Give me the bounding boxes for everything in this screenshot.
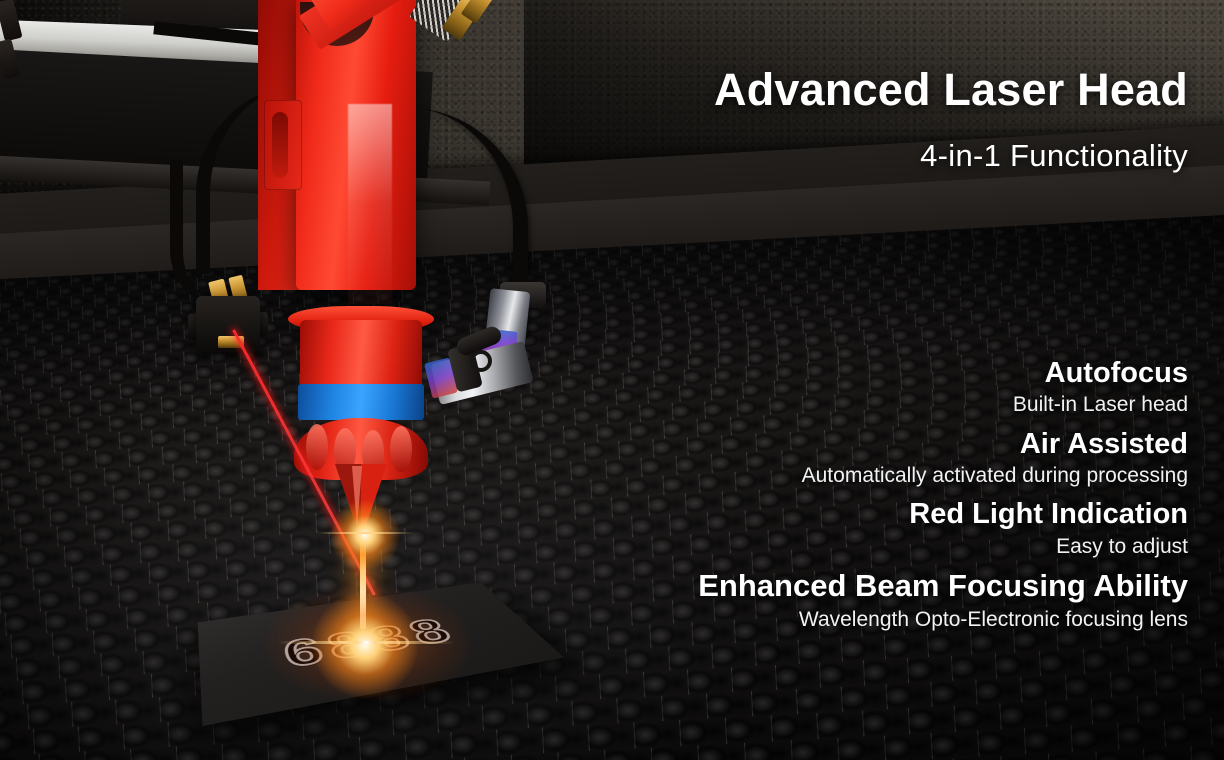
- feature-subtitle: Wavelength Opto-Electronic focusing lens: [508, 605, 1188, 635]
- feature-title: Autofocus: [508, 356, 1188, 390]
- feature-subtitle: Built-in Laser head: [508, 390, 1188, 420]
- product-feature-image: 6888 Advanced Laser Head 4-in-1 Function…: [0, 0, 1224, 760]
- focus-indicator-ring: [298, 384, 424, 420]
- o-ring: [470, 350, 492, 372]
- laser-flare-focal-point: [312, 592, 418, 698]
- feature-item: Enhanced Beam Focusing Ability Wavelengt…: [508, 568, 1188, 635]
- nozzle-rib: [306, 424, 328, 470]
- feature-title: Air Assisted: [508, 427, 1188, 461]
- feature-title: Red Light Indication: [508, 497, 1188, 531]
- laser-flare-cross-upper: [318, 532, 414, 534]
- feature-list: Autofocus Built-in Laser head Air Assist…: [508, 356, 1188, 641]
- page-subtitle: 4-in-1 Functionality: [920, 138, 1188, 174]
- feature-item: Red Light Indication Easy to adjust: [508, 497, 1188, 562]
- laser-flare-upper: [330, 500, 400, 570]
- feature-item: Air Assisted Automatically activated dur…: [508, 427, 1188, 492]
- feature-item: Autofocus Built-in Laser head: [508, 356, 1188, 421]
- feature-subtitle: Automatically activated during processin…: [508, 461, 1188, 491]
- laser-flare-cross: [278, 641, 454, 644]
- feature-subtitle: Easy to adjust: [508, 532, 1188, 562]
- page-title: Advanced Laser Head: [714, 64, 1188, 116]
- feature-title: Enhanced Beam Focusing Ability: [508, 568, 1188, 605]
- laser-head-gloss: [348, 104, 392, 304]
- laser-head-tab-slot: [272, 112, 288, 178]
- nozzle-rib: [390, 426, 412, 472]
